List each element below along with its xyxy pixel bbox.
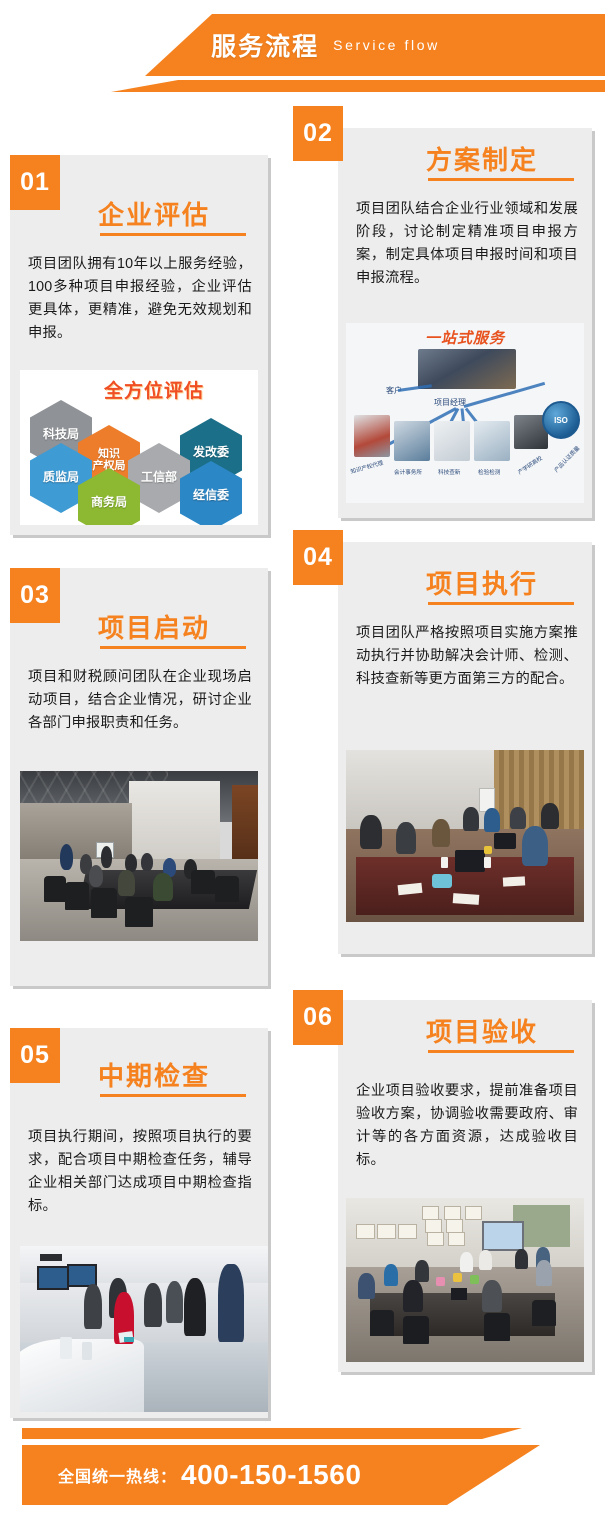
card-06: 06 项目验收 企业项目验收要求，提前准备项目验收方案，协调验收需要政府、审计等… bbox=[338, 1000, 592, 1372]
header-title-wrap: 服务流程 Service flow bbox=[0, 14, 605, 76]
photo-scene bbox=[20, 1246, 268, 1412]
hex-chart-title: 全方位评估 bbox=[104, 376, 204, 403]
card-title: 企业评估 bbox=[98, 195, 210, 232]
card-description: 项目团队严格按照项目实施方案推动执行并协助解决会计师、检测、科技查新等更方面第三… bbox=[356, 622, 578, 691]
hotline-block: 全国统一热线： 400-150-1560 bbox=[58, 1445, 361, 1505]
service-photo-research bbox=[434, 421, 470, 461]
header-accent-stripe bbox=[0, 80, 605, 92]
service-iso-seal: ISO bbox=[542, 401, 580, 439]
service-center-photo bbox=[418, 349, 516, 389]
service-node-manager: 项目经理 bbox=[434, 397, 466, 408]
card-title: 中期检查 bbox=[98, 1056, 210, 1093]
card-01: 01 企业评估 项目团队拥有10年以上服务经验，100多种项目申报经验，企业评估… bbox=[10, 155, 268, 535]
title-underline bbox=[428, 602, 574, 605]
one-stop-service-diagram: 一站式服务 客户 项目经理 ISO 知识产权代理 会计事务所 科技查新 检验检测… bbox=[346, 323, 584, 503]
card-number-badge: 02 bbox=[293, 106, 343, 161]
title-underline bbox=[100, 233, 246, 236]
lobby-visit-photo bbox=[20, 1246, 268, 1412]
card-title: 方案制定 bbox=[426, 140, 538, 177]
title-underline bbox=[428, 1050, 574, 1053]
card-description: 项目和财税顾问团队在企业现场启动项目，结合企业情况，研讨企业各部门申报职责和任务… bbox=[28, 666, 252, 735]
laptop-worksession-photo bbox=[346, 750, 584, 922]
card-number-badge: 01 bbox=[10, 155, 60, 210]
photo-scene bbox=[20, 771, 258, 941]
title-underline bbox=[100, 646, 246, 649]
service-caption-research: 科技查新 bbox=[438, 468, 460, 476]
page-subtitle: Service flow bbox=[333, 37, 440, 53]
card-description: 项目执行期间，按照项目执行的要求，配合项目中期检查任务，辅导企业相关部门达成项目… bbox=[28, 1126, 252, 1219]
photo-scene bbox=[346, 1198, 584, 1362]
card-02: 02 方案制定 项目团队结合企业行业领域和发展阶段，讨论制定精准项目申报方案，制… bbox=[338, 128, 592, 518]
title-underline bbox=[428, 178, 574, 181]
service-caption-testing: 检验检测 bbox=[478, 468, 500, 476]
hotline-label: 全国统一热线： bbox=[58, 1463, 177, 1487]
card-number-badge: 03 bbox=[10, 568, 60, 623]
page-header: 服务流程 Service flow bbox=[0, 14, 605, 106]
hotline-number: 400-150-1560 bbox=[181, 1459, 361, 1491]
photo-scene bbox=[346, 750, 584, 922]
meeting-room-photo bbox=[20, 771, 258, 941]
hexagon-assessment-chart: 全方位评估 科技局 知识 产权局 发改委 质监局 工信部 商务局 经信委 bbox=[20, 370, 258, 525]
card-number-badge: 04 bbox=[293, 530, 343, 585]
card-description: 项目团队结合企业行业领域和发展阶段，讨论制定精准项目申报方案，制定具体项目申报时… bbox=[356, 198, 578, 291]
title-underline bbox=[100, 1094, 246, 1097]
page-title: 服务流程 bbox=[211, 27, 319, 63]
card-title: 项目验收 bbox=[426, 1012, 538, 1049]
service-caption-ip: 知识产权代理 bbox=[350, 459, 384, 476]
service-diagram-title: 一站式服务 bbox=[346, 327, 584, 348]
card-number-badge: 05 bbox=[10, 1028, 60, 1083]
card-title: 项目启动 bbox=[98, 608, 210, 645]
service-caption-certification: 产品认证质量 bbox=[552, 444, 581, 474]
card-05: 05 中期检查 项目执行期间，按照项目执行的要求，配合项目中期检查任务，辅导企业… bbox=[10, 1028, 268, 1418]
card-description: 企业项目验收要求，提前准备项目验收方案，协调验收需要政府、审计等的各方面资源，达… bbox=[356, 1080, 578, 1173]
card-number-badge: 06 bbox=[293, 990, 343, 1045]
card-03: 03 项目启动 项目和财税顾问团队在企业现场启动项目，结合企业情况，研讨企业各部… bbox=[10, 568, 268, 986]
service-photo-ip bbox=[354, 415, 390, 457]
infographic-page: 服务流程 Service flow 01 企业评估 项目团队拥有10年以上服务经… bbox=[0, 0, 605, 1538]
footer-accent-stripe bbox=[22, 1428, 605, 1439]
card-description: 项目团队拥有10年以上服务经验，100多种项目申报经验，企业评估更具体，更精准，… bbox=[28, 253, 252, 346]
boardroom-review-photo bbox=[346, 1198, 584, 1362]
service-photo-testing bbox=[474, 421, 510, 461]
card-04: 04 项目执行 项目团队严格按照项目实施方案推动执行并协助解决会计师、检测、科技… bbox=[338, 542, 592, 954]
page-footer: 全国统一热线： 400-150-1560 bbox=[0, 1428, 605, 1520]
service-caption-accounting: 会计事务所 bbox=[394, 468, 422, 476]
service-caption-university: 产学研高校 bbox=[516, 454, 544, 476]
card-title: 项目执行 bbox=[426, 564, 538, 601]
service-photo-accounting bbox=[394, 421, 430, 461]
